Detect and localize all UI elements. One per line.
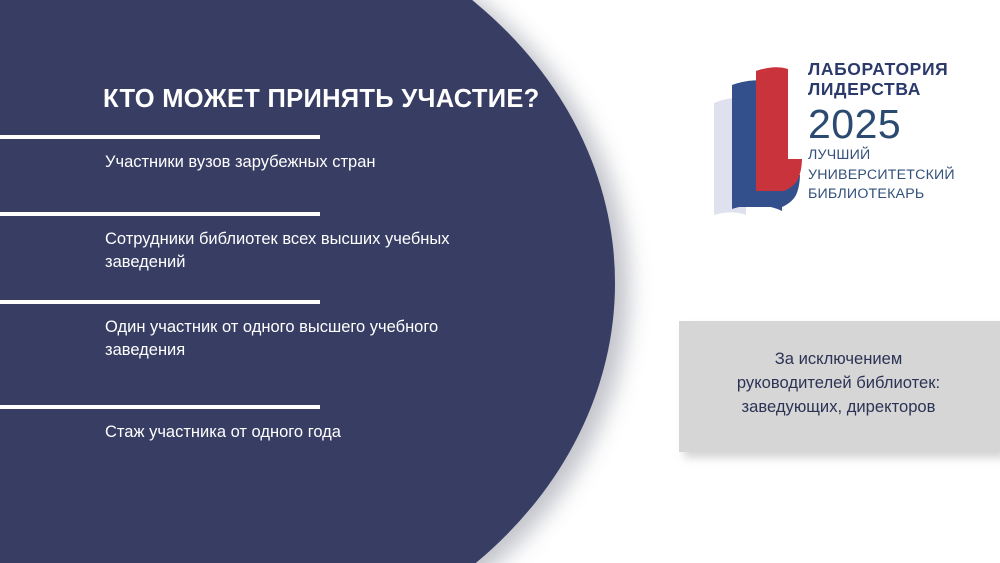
note-line-1: За исключением xyxy=(693,347,984,371)
note-line-2: руководителей библиотек: xyxy=(693,371,984,395)
note-line-3: заведующих, директоров xyxy=(693,395,984,419)
logo-subtitle-line-2: УНИВЕРСИТЕТСКИЙ xyxy=(808,167,978,184)
bullet-text: Стаж участника от одного года xyxy=(105,421,515,444)
exclusion-note-card: За исключением руководителей библиотек: … xyxy=(679,321,1000,452)
logo-year: 2025 xyxy=(808,104,978,146)
logo-wordmark: ЛАБОРАТОРИЯ ЛИДЕРСТВА 2025 ЛУЧШИЙ УНИВЕР… xyxy=(808,59,978,203)
bullet-divider-rule xyxy=(0,212,320,216)
bullet-divider-rule xyxy=(0,405,320,409)
bullet-divider-rule xyxy=(0,300,320,304)
exclusion-note-text: За исключением руководителей библиотек: … xyxy=(693,347,984,419)
bullet-text: Участники вузов зарубежных стран xyxy=(105,151,515,174)
bullet-text: Один участник от одного высшего учебного… xyxy=(105,316,515,363)
logo-subtitle-line-3: БИБЛИОТЕКАРЬ xyxy=(808,186,978,203)
logo-name-line-2: ЛИДЕРСТВА xyxy=(808,79,978,99)
bullet-text: Сотрудники библиотек всех высших учебных… xyxy=(105,228,515,275)
open-book-l-monogram-icon xyxy=(712,55,804,223)
event-logo: ЛАБОРАТОРИЯ ЛИДЕРСТВА 2025 ЛУЧШИЙ УНИВЕР… xyxy=(712,55,974,225)
bullet-divider-rule xyxy=(0,135,320,139)
logo-subtitle-line-1: ЛУЧШИЙ xyxy=(808,147,978,164)
logo-name-line-1: ЛАБОРАТОРИЯ xyxy=(808,59,978,79)
page-title: КТО МОЖЕТ ПРИНЯТЬ УЧАСТИЕ? xyxy=(103,85,573,114)
slide-canvas: КТО МОЖЕТ ПРИНЯТЬ УЧАСТИЕ? Участники вуз… xyxy=(0,0,1000,563)
